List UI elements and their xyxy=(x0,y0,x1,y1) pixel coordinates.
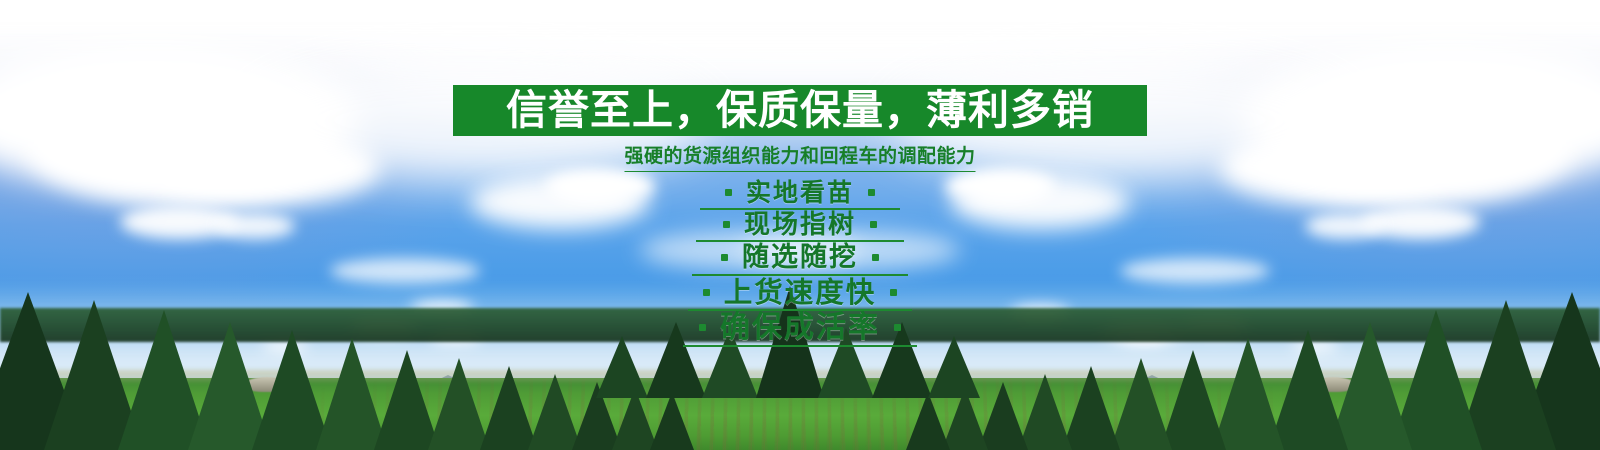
feature-label: 确保成活率 xyxy=(720,313,880,344)
title-banner-bar: 信誉至上，保质保量，薄利多销 xyxy=(453,85,1147,136)
list-item: 确保成活率 xyxy=(683,313,917,348)
feature-label: 实地看苗 xyxy=(746,180,854,206)
bullet-dot-icon xyxy=(703,289,710,296)
promo-banner: 信誉至上，保质保量，薄利多销 强硬的货源组织能力和回程车的调配能力 实地看苗 现… xyxy=(0,0,1600,450)
bullet-dot-icon xyxy=(890,289,897,296)
bullet-dot-icon xyxy=(699,324,706,331)
bullet-dot-icon xyxy=(725,189,732,196)
bullet-dot-icon xyxy=(872,254,879,261)
feature-label: 上货速度快 xyxy=(724,278,877,307)
bullet-dot-icon xyxy=(723,221,730,228)
list-item: 实地看苗 xyxy=(700,180,900,210)
bullet-dot-icon xyxy=(894,324,901,331)
feature-label: 随选随挖 xyxy=(742,244,858,272)
subtitle: 强硬的货源组织能力和回程车的调配能力 xyxy=(624,146,975,172)
list-item: 上货速度快 xyxy=(688,278,912,311)
bullet-dot-icon xyxy=(721,254,728,261)
page-title: 信誉至上，保质保量，薄利多销 xyxy=(506,90,1094,131)
bullet-dot-icon xyxy=(868,189,875,196)
list-item: 随选随挖 xyxy=(692,244,908,276)
feature-list: 实地看苗 现场指树 随选随挖 上货速度快 确保成活率 xyxy=(683,180,917,349)
banner-content: 信誉至上，保质保量，薄利多销 强硬的货源组织能力和回程车的调配能力 实地看苗 现… xyxy=(0,0,1600,450)
feature-label: 现场指树 xyxy=(744,212,856,239)
bullet-dot-icon xyxy=(870,221,877,228)
list-item: 现场指树 xyxy=(696,212,904,243)
